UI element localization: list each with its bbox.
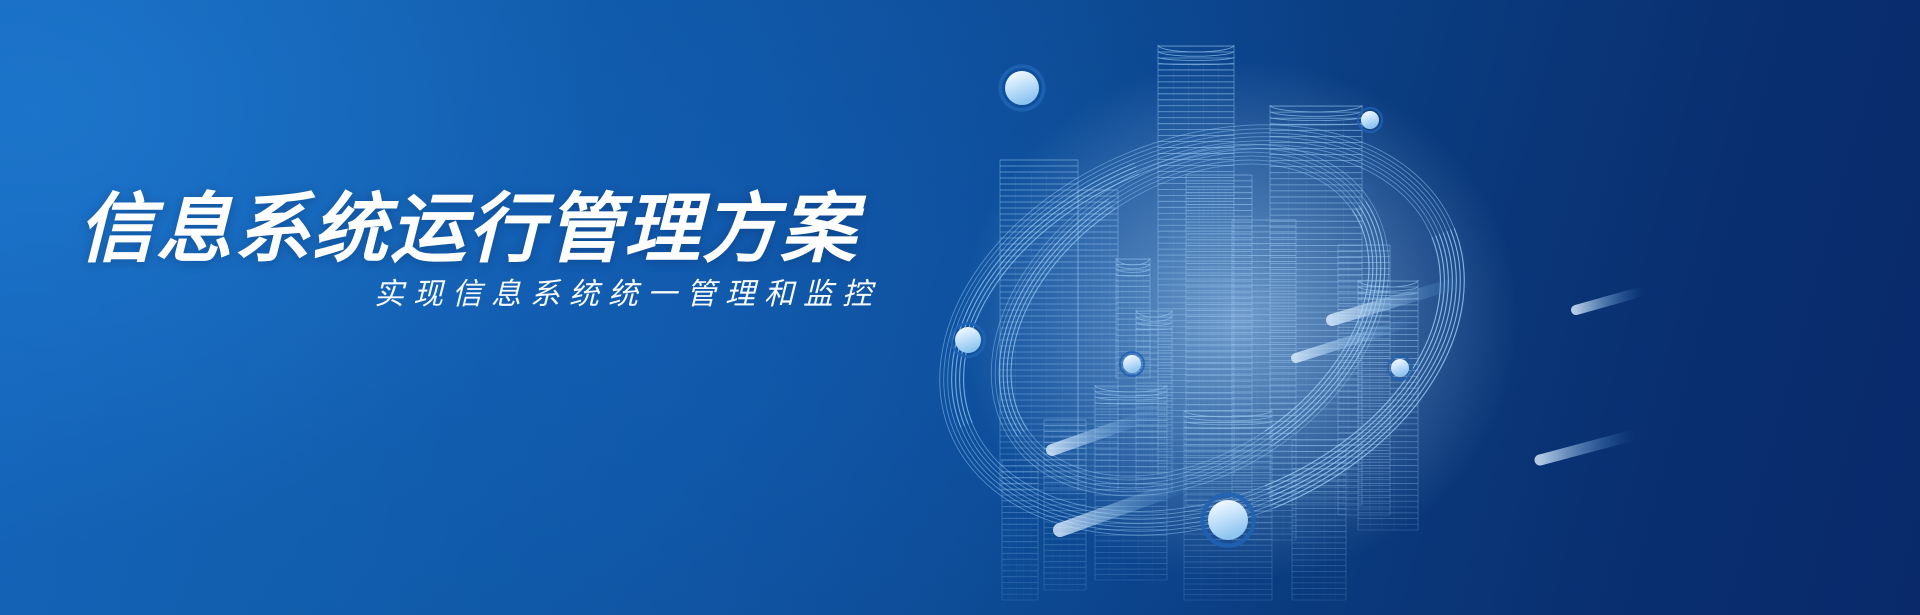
wireframe-city-artwork — [940, 0, 1640, 615]
light-streak — [1576, 292, 1640, 310]
glow-dot — [951, 323, 984, 356]
hero-banner: 信息系统运行管理方案 实现信息系统统一管理和监控 — [0, 0, 1920, 615]
glow-dot — [1202, 494, 1253, 545]
glow-dot — [1358, 108, 1382, 132]
glow-dot-core — [955, 327, 981, 353]
city-illustration-svg — [940, 0, 1640, 615]
glow-dot-core — [1391, 359, 1409, 377]
building-contour-line — [1158, 57, 1234, 61]
light-streak — [1540, 436, 1630, 460]
glow-dot — [1120, 352, 1144, 376]
page-subtitle: 实现信息系统统一管理和监控 — [374, 280, 881, 310]
page-title: 信息系统运行管理方案 — [78, 192, 858, 268]
glow-dot — [1000, 66, 1044, 110]
glow-dot-core — [1123, 355, 1141, 373]
glow-dot — [1388, 356, 1412, 380]
glow-dot-core — [1361, 111, 1379, 129]
glow-dot-core — [1208, 500, 1248, 540]
glow-dot-core — [1005, 71, 1039, 105]
hero-text-block: 信息系统运行管理方案 实现信息系统统一管理和监控 — [0, 0, 940, 615]
